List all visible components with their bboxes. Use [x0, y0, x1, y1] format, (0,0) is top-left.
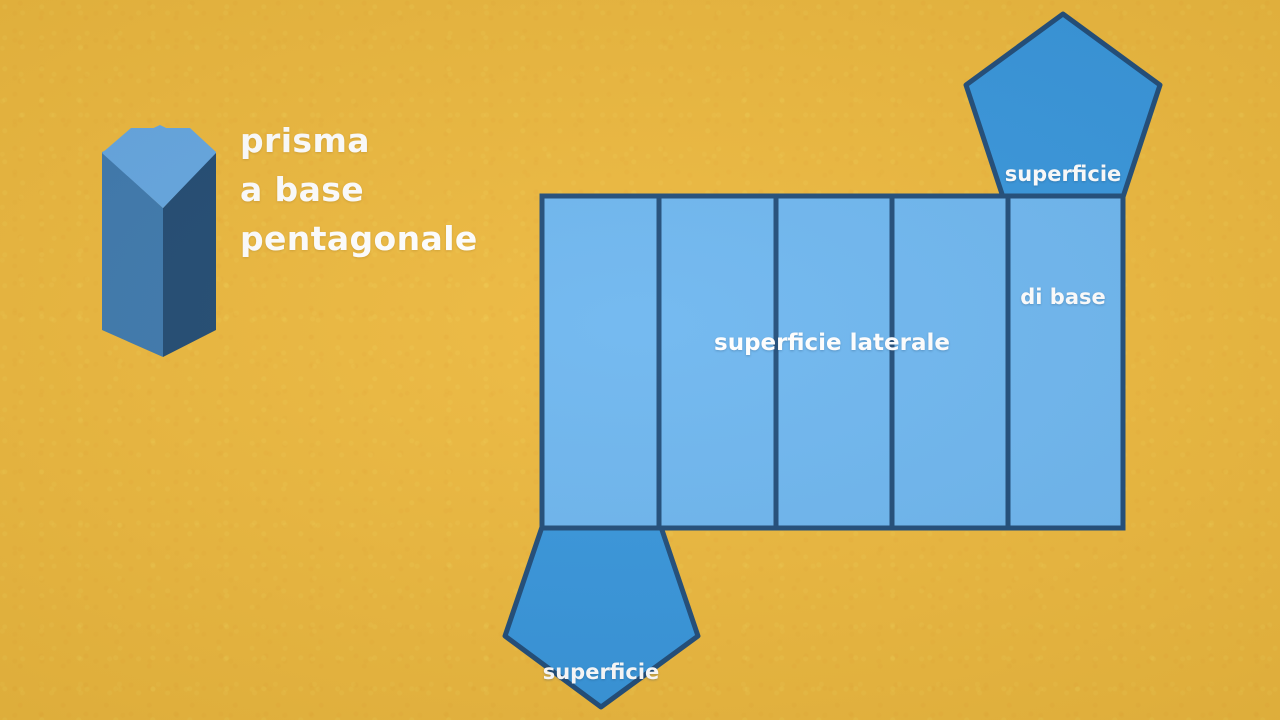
- net-lateral-panel[interactable]: [892, 196, 1008, 528]
- slide-canvas: prisma a base pentagonale superficie lat…: [0, 0, 1280, 720]
- prism-net-diagram: [0, 0, 1280, 720]
- net-lateral-panel[interactable]: [542, 196, 659, 528]
- net-lateral-panel[interactable]: [776, 196, 892, 528]
- net-base-pentagon-bottom[interactable]: [505, 527, 698, 707]
- net-base-pentagon-top[interactable]: [966, 14, 1160, 197]
- net-lateral-panel[interactable]: [1008, 196, 1123, 528]
- net-lateral-panel[interactable]: [659, 196, 776, 528]
- net-lateral-surface[interactable]: [542, 196, 1123, 528]
